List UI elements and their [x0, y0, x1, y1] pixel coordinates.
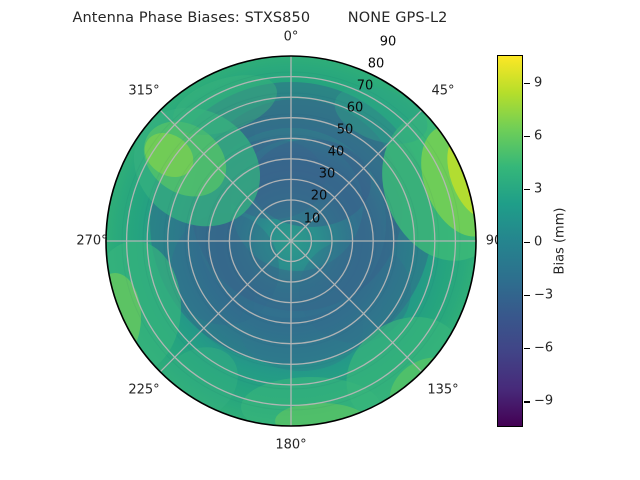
polar-grid: [106, 56, 476, 426]
polar-axes[interactable]: 0° 45° 90 135° 180° 225° 270° 315° 10 20…: [105, 55, 477, 427]
r-label-30: 30: [319, 167, 336, 182]
colorbar-tick-0: [524, 242, 530, 243]
colorbar-ticklabel-3: 3: [534, 181, 542, 196]
r-label-70: 70: [357, 79, 374, 94]
r-label-50: 50: [337, 123, 354, 138]
colorbar-ticklabel-neg9: −9: [534, 394, 553, 409]
colorbar-tick-6: [524, 136, 530, 137]
colorbar-axis-label: Bias (mm): [553, 208, 568, 275]
theta-label-270: 270°: [76, 234, 107, 249]
r-label-20: 20: [311, 189, 328, 204]
r-label-40: 40: [328, 145, 345, 160]
page-title: Antenna Phase Biases: STXS850 NONE GPS-L…: [0, 10, 520, 26]
theta-label-225: 225°: [128, 383, 159, 398]
theta-label-0: 0°: [284, 30, 299, 45]
colorbar-ticklabel-9: 9: [534, 75, 542, 90]
colorbar-ticklabel-0: 0: [534, 235, 542, 250]
colorbar-ticklabel-neg6: −6: [534, 341, 553, 356]
colorbar-gradient: [498, 56, 522, 426]
colorbar-tick-neg3: [524, 295, 530, 296]
r-label-60: 60: [347, 101, 364, 116]
colorbar-ticklabel-neg3: −3: [534, 288, 553, 303]
colorbar[interactable]: [497, 55, 523, 427]
polar-plot-canvas: [105, 55, 477, 427]
polar-contour-figure: Antenna Phase Biases: STXS850 NONE GPS-L…: [0, 0, 640, 480]
r-label-80: 80: [368, 57, 385, 72]
theta-label-315: 315°: [128, 84, 159, 99]
theta-label-180: 180°: [275, 438, 306, 453]
colorbar-tick-neg6: [524, 348, 530, 349]
colorbar-ticklabel-6: 6: [534, 128, 542, 143]
r-label-10: 10: [304, 212, 321, 227]
colorbar-tick-9: [524, 83, 530, 84]
theta-label-135: 135°: [427, 383, 458, 398]
colorbar-tick-neg9: [524, 401, 530, 402]
r-label-90: 90: [380, 35, 397, 50]
colorbar-tick-3: [524, 189, 530, 190]
theta-label-45: 45°: [431, 84, 454, 99]
